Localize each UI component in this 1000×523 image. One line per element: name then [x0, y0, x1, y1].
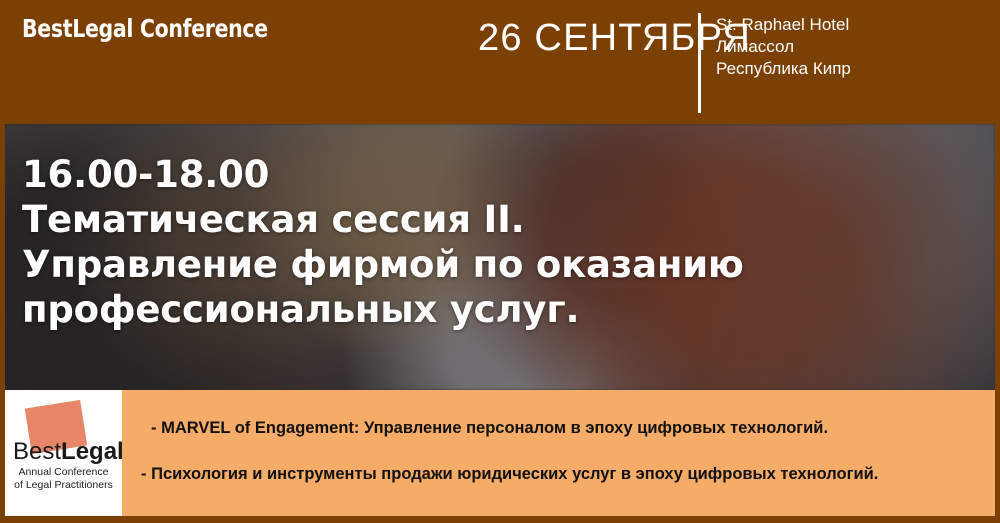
header-band: BestLegal Conference 26 СЕНТЯБРЯ St. Rap…	[0, 0, 1000, 124]
logo-wordmark: BestLegal	[13, 439, 114, 465]
hero-photo-section: 16.00-18.00 Тематическая сессия II. Упра…	[5, 124, 995, 390]
venue-country: Республика Кипр	[716, 58, 851, 80]
topic-item: - MARVEL of Engagement: Управление персо…	[151, 416, 971, 441]
session-title-line-1: Тематическая сессия II.	[22, 197, 744, 242]
frame-border-left	[0, 124, 5, 523]
event-date: 26 СЕНТЯБРЯ	[478, 17, 751, 60]
session-title-line-2: Управление фирмой по оказанию	[22, 242, 744, 287]
frame-border-right	[995, 124, 1000, 523]
bestlegal-logo-panel: BestLegal Annual Conference of Legal Pra…	[5, 390, 122, 523]
vertical-divider	[698, 13, 701, 113]
topic-list: - MARVEL of Engagement: Управление персо…	[141, 416, 971, 487]
logo-word-legal: Legal	[61, 438, 124, 465]
logo-tagline-line-1: Annual Conference	[9, 466, 118, 479]
logo-word-best: Best	[13, 438, 61, 465]
brand-logo-text: BestLegal Conference	[22, 14, 268, 43]
session-time: 16.00-18.00	[22, 152, 744, 197]
logo-tagline: Annual Conference of Legal Practitioners	[9, 466, 118, 491]
venue-hotel: St. Raphael Hotel	[716, 14, 851, 36]
logo-tagline-line-2: of Legal Practitioners	[9, 479, 118, 492]
session-title-line-3: профессиональных услуг.	[22, 287, 744, 332]
topic-item: - Психология и инструменты продажи юриди…	[141, 462, 971, 487]
venue-block: St. Raphael Hotel Лимассол Республика Ки…	[716, 14, 851, 80]
conference-banner: BestLegal Conference 26 СЕНТЯБРЯ St. Rap…	[0, 0, 1000, 523]
venue-city: Лимассол	[716, 36, 851, 58]
session-heading-block: 16.00-18.00 Тематическая сессия II. Упра…	[22, 152, 744, 332]
frame-border-bottom	[0, 516, 1000, 523]
